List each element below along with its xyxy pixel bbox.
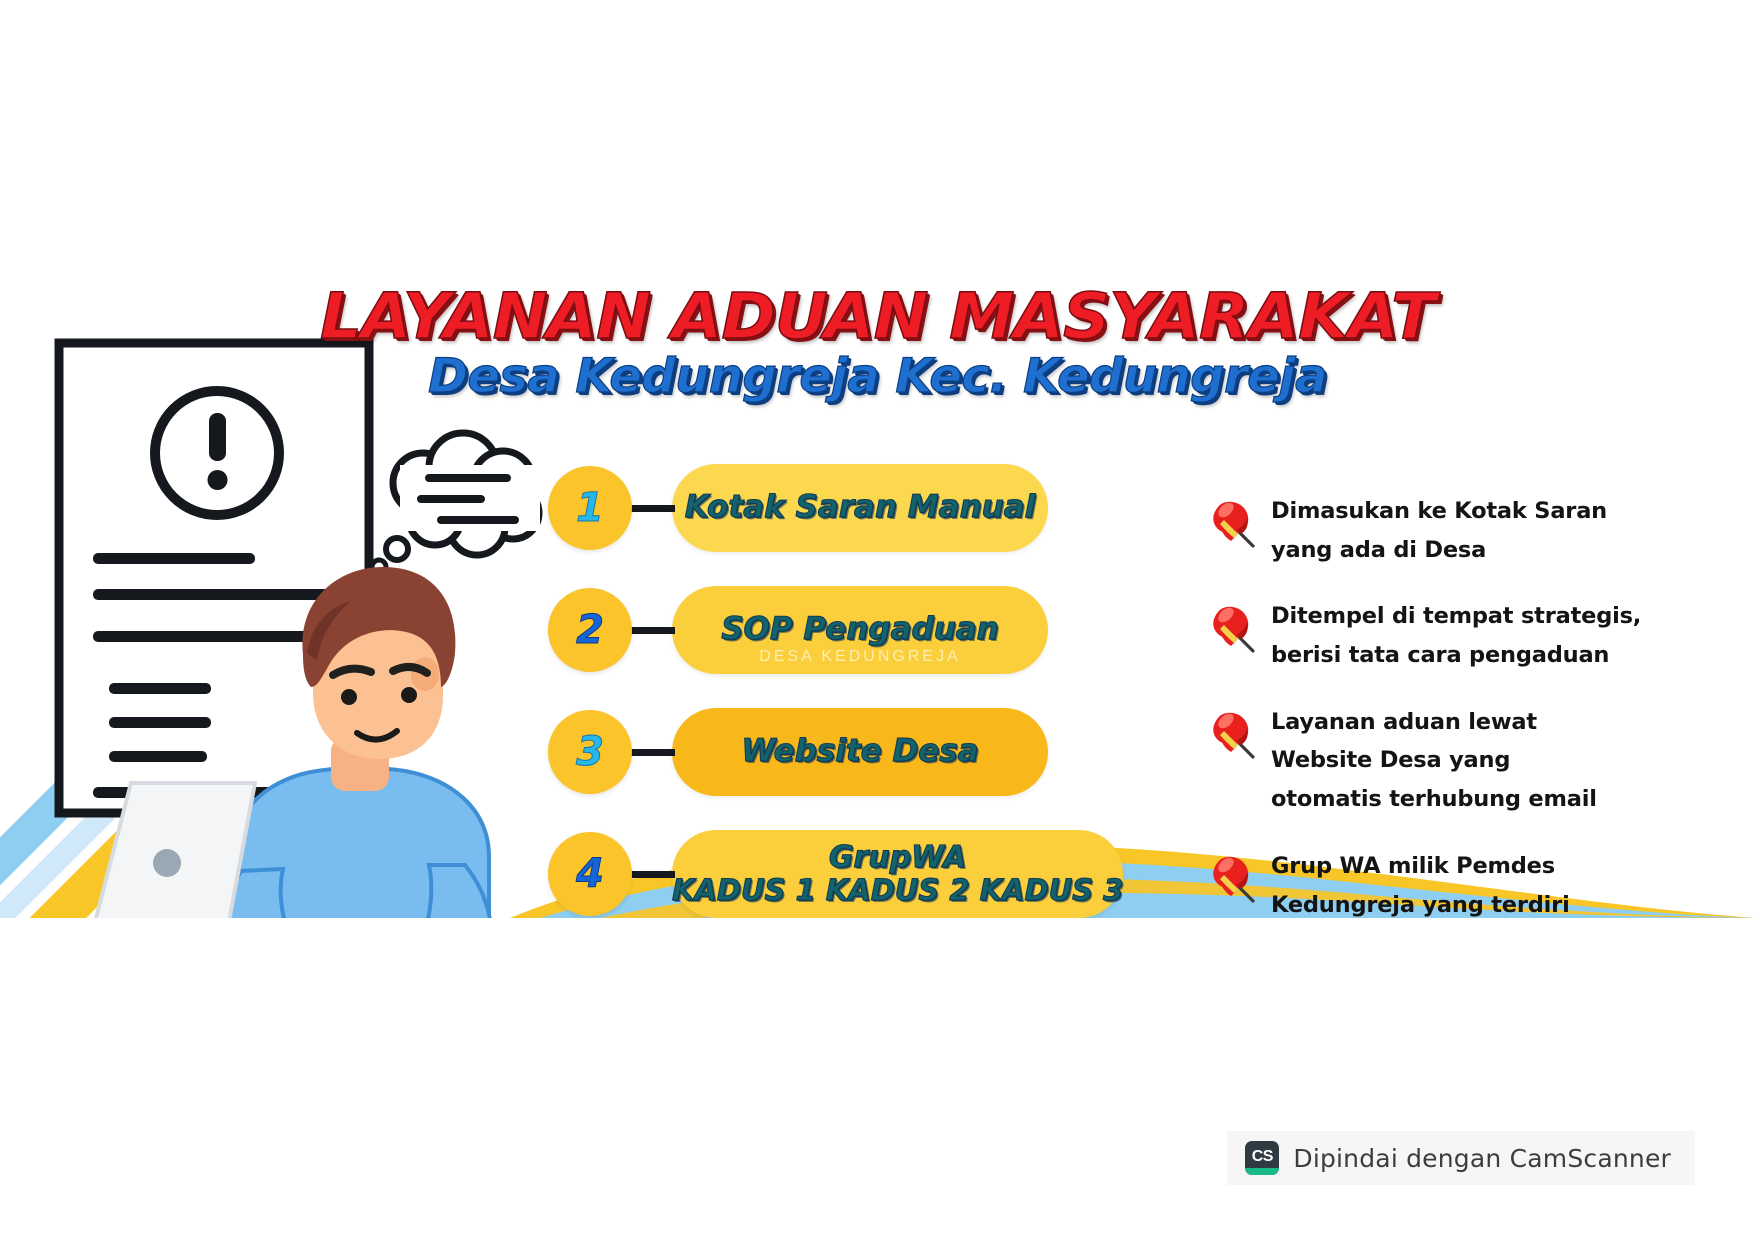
note-text: Grup WA milik Pemdes Kedungreja yang ter… [1271, 847, 1620, 918]
note-text: Dimasukan ke Kotak Saran yang ada di Des… [1271, 492, 1607, 569]
steps-list: 1 Kotak Saran Manual 2 SOP Pengaduan DES… [548, 462, 1048, 918]
page-title: LAYANAN ADUAN MASYARAKAT [0, 285, 1755, 349]
step-connector-line [629, 749, 675, 756]
step-label-bar[interactable]: GrupWA KADUS 1 KADUS 2 KADUS 3 [672, 830, 1123, 918]
step-label: Website Desa [741, 735, 978, 768]
document-line [93, 553, 255, 564]
push-pin-icon [1205, 849, 1263, 907]
bubble-line [417, 495, 485, 503]
step-row[interactable]: 2 SOP Pengaduan DESA KEDUNGREJA [548, 584, 1048, 676]
scanned-page-sheet: LAYANAN ADUAN MASYARAKAT Desa Kedungreja… [0, 100, 1755, 918]
camscanner-icon-letters: CS [1252, 1148, 1273, 1166]
step-label-bar[interactable]: Kotak Saran Manual [672, 464, 1048, 552]
push-pin-icon [1205, 494, 1263, 552]
document-line [109, 717, 211, 728]
note-text: Layanan aduan lewat Website Desa yang ot… [1271, 703, 1597, 819]
step-row[interactable]: 1 Kotak Saran Manual [548, 462, 1048, 554]
document-line [109, 683, 211, 694]
camscanner-icon: CS [1245, 1141, 1279, 1175]
note-item: Dimasukan ke Kotak Saran yang ada di Des… [1205, 492, 1675, 569]
poster-title-block: LAYANAN ADUAN MASYARAKAT Desa Kedungreja… [0, 285, 1755, 401]
step-label: Kotak Saran Manual [685, 491, 1036, 524]
note-item: Ditempel di tempat strategis, berisi tat… [1205, 597, 1675, 674]
step-connector-line [629, 505, 675, 512]
step-number-badge: 3 [548, 710, 632, 794]
step-number-badge: 2 [548, 588, 632, 672]
step-connector-line [629, 627, 675, 634]
page-subtitle: Desa Kedungreja Kec. Kedungreja [0, 353, 1755, 401]
bubble-line [425, 474, 511, 482]
document-outline [59, 343, 369, 813]
step-label-bar[interactable]: Website Desa [672, 708, 1048, 796]
camscanner-icon-accent-bar [1245, 1168, 1279, 1175]
push-pin-icon [1205, 599, 1263, 657]
step-label: GrupWA [829, 842, 967, 874]
bubble-line [437, 516, 519, 524]
notes-list: Dimasukan ke Kotak Saran yang ada di Des… [1205, 492, 1675, 918]
infographic-poster: LAYANAN ADUAN MASYARAKAT Desa Kedungreja… [0, 0, 1755, 1240]
step-number-badge: 4 [548, 832, 632, 916]
camscanner-watermark: CS Dipindai dengan CamScanner [1227, 1131, 1695, 1185]
document-line [93, 589, 355, 600]
step-number-badge: 1 [548, 466, 632, 550]
document-line [109, 751, 207, 762]
step-label: SOP Pengaduan [721, 613, 999, 646]
note-item: Grup WA milik Pemdes Kedungreja yang ter… [1205, 847, 1675, 918]
step-row[interactable]: 4 GrupWA KADUS 1 KADUS 2 KADUS 3 [548, 828, 1048, 918]
step-connector-line [629, 871, 675, 878]
note-text: Ditempel di tempat strategis, berisi tat… [1271, 597, 1641, 674]
note-item: Layanan aduan lewat Website Desa yang ot… [1205, 703, 1675, 819]
camscanner-label: Dipindai dengan CamScanner [1293, 1144, 1671, 1173]
step-label-bar[interactable]: SOP Pengaduan DESA KEDUNGREJA [672, 586, 1048, 674]
push-pin-icon [1205, 705, 1263, 763]
step-sublabel: KADUS 1 KADUS 2 KADUS 3 [672, 875, 1123, 906]
desa-watermark: DESA KEDUNGREJA [759, 648, 960, 666]
step-row[interactable]: 3 Website Desa [548, 706, 1048, 798]
illustration-complaint-scene [45, 335, 555, 918]
